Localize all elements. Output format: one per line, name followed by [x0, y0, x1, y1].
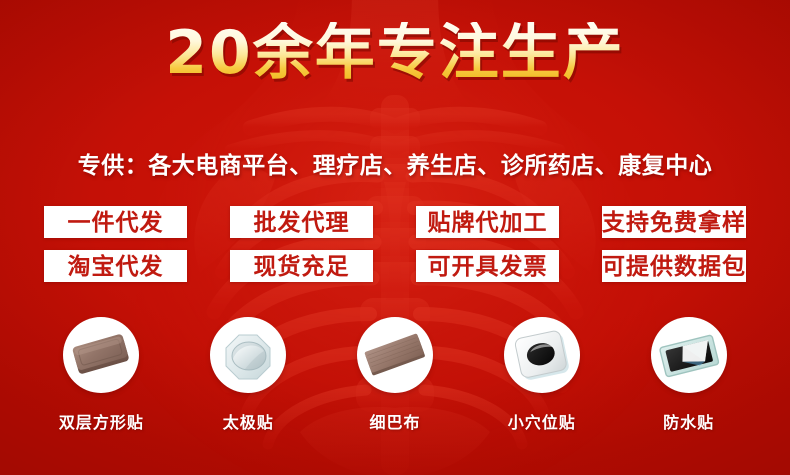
service-badge[interactable]: 批发代理: [230, 206, 373, 238]
white-square-black-dot-patch-icon: [504, 317, 580, 393]
product-thumbnail[interactable]: [651, 317, 727, 393]
subtitle: 专供：各大电商平台、理疗店、养生店、诊所药店、康复中心: [0, 146, 790, 180]
product-thumbnail[interactable]: [63, 317, 139, 393]
product-label: 太极贴: [223, 409, 274, 433]
page-title: 20余年专注生产: [165, 22, 625, 85]
product-item[interactable]: 小穴位贴: [468, 317, 615, 433]
service-badge[interactable]: 贴牌代加工: [416, 206, 559, 238]
headline-container: 20余年专注生产: [0, 22, 790, 85]
service-badge[interactable]: 支持免费拿样: [602, 206, 746, 238]
waterproof-black-film-patch-icon: [651, 317, 727, 393]
product-label: 小穴位贴: [508, 409, 576, 433]
product-thumbnail[interactable]: [210, 317, 286, 393]
service-badge[interactable]: 现货充足: [230, 250, 373, 282]
product-label: 防水贴: [663, 409, 714, 433]
product-item[interactable]: 防水贴: [615, 317, 762, 433]
service-badge-grid: 一件代发 批发代理 贴牌代加工 支持免费拿样 淘宝代发 现货充足 可开具发票 可…: [44, 206, 746, 282]
service-badge[interactable]: 可提供数据包: [602, 250, 746, 282]
brown-thin-cloth-patch-icon: [357, 317, 433, 393]
promotional-banner: 20余年专注生产 专供：各大电商平台、理疗店、养生店、诊所药店、康复中心 一件代…: [0, 0, 790, 475]
product-item[interactable]: 双层方形贴: [28, 317, 175, 433]
product-thumbnail-row: 双层方形贴: [28, 317, 762, 433]
brown-rectangular-patch-icon: [63, 317, 139, 393]
service-badge[interactable]: 淘宝代发: [44, 250, 187, 282]
product-label: 双层方形贴: [59, 409, 144, 433]
product-label: 细巴布: [369, 409, 420, 433]
service-badge[interactable]: 可开具发票: [416, 250, 559, 282]
product-thumbnail[interactable]: [357, 317, 433, 393]
octagonal-taichi-patch-icon: [210, 317, 286, 393]
service-badge[interactable]: 一件代发: [44, 206, 187, 238]
product-item[interactable]: 太极贴: [175, 317, 322, 433]
product-item[interactable]: 细巴布: [322, 317, 469, 433]
product-thumbnail[interactable]: [504, 317, 580, 393]
